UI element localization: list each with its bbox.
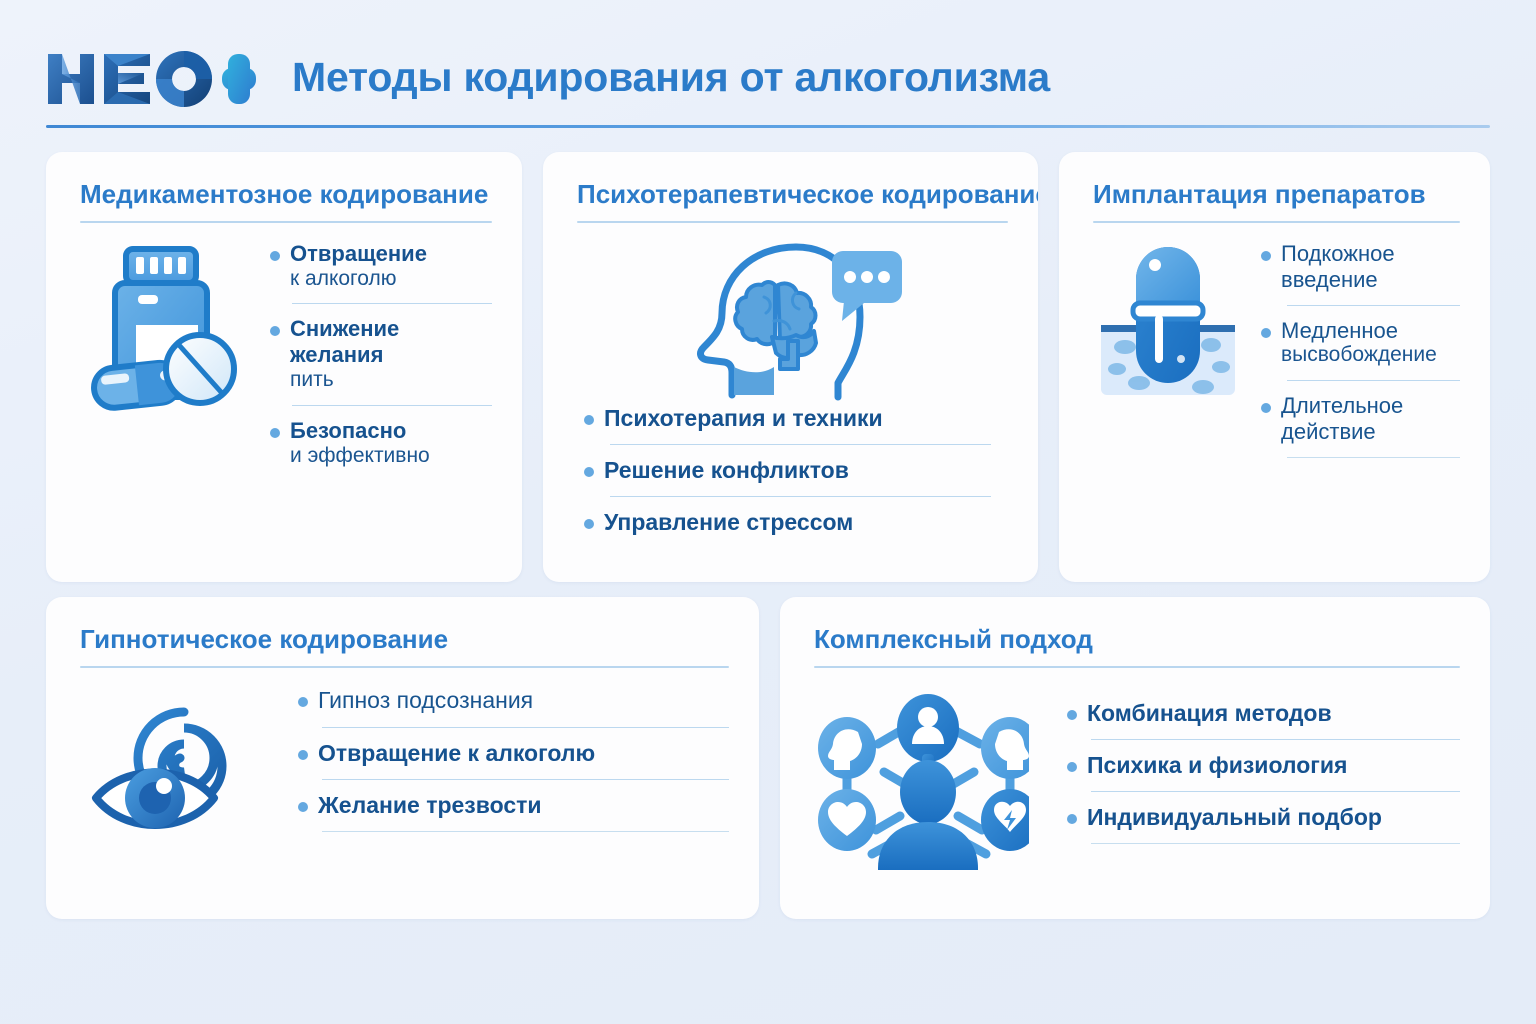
- list-item[interactable]: Желание трезвости: [298, 792, 729, 844]
- card-medication[interactable]: Медикаментозное кодирование: [46, 152, 522, 582]
- card-title-underline: [80, 221, 492, 223]
- bullet-dot-icon: [298, 697, 308, 707]
- list-item[interactable]: Психотерапия и техники: [584, 405, 1015, 457]
- card-title-underline: [814, 666, 1460, 668]
- list-item[interactable]: Подкожное введение: [1261, 241, 1460, 318]
- bullet-separator: [292, 303, 492, 304]
- bullet-separator: [1287, 457, 1460, 458]
- bullet-separator: [322, 831, 729, 832]
- cards-row-top: Медикаментозное кодирование: [46, 152, 1490, 582]
- bullet-line-1: Психика и физиология: [1087, 752, 1347, 779]
- card-complex[interactable]: Комплексный подход: [780, 597, 1490, 919]
- bullet-line-1: Желание трезвости: [318, 792, 542, 819]
- list-item[interactable]: Индивидуальный подбор: [1067, 804, 1460, 856]
- bullet-line-1: Безопасно: [290, 418, 430, 444]
- list-item[interactable]: Отвращение к алкоголю: [270, 241, 492, 317]
- cards-row-bottom: Гипнотическое кодирование: [46, 597, 1490, 919]
- list-item[interactable]: Медленное высвобождение: [1261, 318, 1460, 394]
- bullet-line-1: Подкожное введение: [1281, 241, 1460, 293]
- page-header: Методы кодирования от алкоголизма: [46, 30, 1490, 128]
- hypnosis-eye-spiral-icon: [80, 686, 260, 846]
- bullet-dot-icon: [1067, 762, 1077, 772]
- card-implant[interactable]: Имплантация препаратов: [1059, 152, 1490, 582]
- header-divider: [46, 125, 1490, 128]
- people-network-icon: [814, 686, 1029, 871]
- implant-capsule-icon: [1093, 241, 1243, 471]
- pill-bottle-icon: [80, 241, 250, 475]
- bullet-line-1: Психотерапия и техники: [604, 405, 883, 432]
- list-item[interactable]: Гипноз подсознания: [298, 687, 729, 739]
- bullet-line-2: и эффективно: [290, 444, 430, 469]
- bullet-list-medication: Отвращение к алкоголю Снижение желания п…: [264, 241, 492, 475]
- bullet-line-1: Отвращение к алкоголю: [318, 740, 595, 767]
- bullet-line-1: Медленное: [1281, 318, 1437, 344]
- card-title-underline: [577, 221, 1008, 223]
- card-title-complex: Комплексный подход: [814, 625, 1460, 654]
- bullet-dot-icon: [584, 467, 594, 477]
- card-title-hypnosis: Гипнотическое кодирование: [80, 625, 729, 654]
- list-item[interactable]: Управление стрессом: [584, 509, 1015, 542]
- bullet-separator: [322, 727, 729, 728]
- card-title-implant: Имплантация препаратов: [1093, 180, 1460, 209]
- card-title-psychotherapy: Психотерапевтическое кодирование: [577, 180, 1008, 209]
- page-title: Методы кодирования от алкоголизма: [292, 57, 1050, 102]
- list-item[interactable]: Безопасно и эффективно: [270, 418, 492, 475]
- bullet-separator: [292, 405, 492, 406]
- bullet-dot-icon: [1261, 403, 1271, 413]
- bullet-line-1: Длительное действие: [1281, 393, 1460, 445]
- bullet-dot-icon: [584, 519, 594, 529]
- bullet-separator: [1287, 380, 1460, 381]
- bullet-line-1: Комбинация методов: [1087, 700, 1332, 727]
- card-title-underline: [1093, 221, 1460, 223]
- card-title-underline: [80, 666, 729, 668]
- bullet-dot-icon: [270, 251, 280, 261]
- list-item[interactable]: Длительное действие: [1261, 393, 1460, 470]
- bullet-dot-icon: [298, 802, 308, 812]
- bullet-list-complex: Комбинация методов Психика и физиология: [1043, 686, 1460, 871]
- neo-plus-logo: [46, 51, 258, 107]
- bullet-line-2: высвобождение: [1281, 343, 1437, 368]
- bullet-separator: [1091, 843, 1460, 844]
- bullet-dot-icon: [1067, 710, 1077, 720]
- list-item[interactable]: Решение конфликтов: [584, 457, 1015, 509]
- bullet-line-1: Индивидуальный подбор: [1087, 804, 1382, 831]
- bullet-dot-icon: [1261, 328, 1271, 338]
- bullet-separator: [1091, 739, 1460, 740]
- bullet-list-implant: Подкожное введение Медленное высвобожден…: [1257, 241, 1460, 471]
- bullet-dot-icon: [270, 326, 280, 336]
- bullet-separator: [1287, 305, 1460, 306]
- bullet-dot-icon: [1261, 251, 1271, 261]
- bullet-line-1: Управление стрессом: [604, 509, 853, 536]
- list-item[interactable]: Психика и физиология: [1067, 752, 1460, 804]
- bullet-line-1: Снижение желания: [290, 316, 492, 368]
- bullet-separator: [610, 496, 991, 497]
- card-title-medication: Медикаментозное кодирование: [80, 180, 492, 209]
- bullet-dot-icon: [1067, 814, 1077, 824]
- bullet-list-psychotherapy: Психотерапия и техники Решение конфликто…: [566, 405, 1019, 542]
- bullet-dot-icon: [584, 415, 594, 425]
- card-hypnosis[interactable]: Гипнотическое кодирование: [46, 597, 759, 919]
- bullet-separator: [322, 779, 729, 780]
- bullet-line-2: пить: [290, 368, 492, 393]
- bullet-list-hypnosis: Гипноз подсознания Отвращение к алкоголю: [274, 686, 729, 846]
- bullet-dot-icon: [298, 750, 308, 760]
- bullet-separator: [1091, 791, 1460, 792]
- bullet-dot-icon: [270, 428, 280, 438]
- bullet-line-2: к алкоголю: [290, 267, 427, 292]
- bullet-line-1: Отвращение: [290, 241, 427, 267]
- bullet-line-1: Гипноз подсознания: [318, 687, 533, 714]
- bullet-line-1: Решение конфликтов: [604, 457, 849, 484]
- bullet-separator: [610, 444, 991, 445]
- list-item[interactable]: Отвращение к алкоголю: [298, 740, 729, 792]
- list-item[interactable]: Комбинация методов: [1067, 700, 1460, 752]
- list-item[interactable]: Снижение желания пить: [270, 316, 492, 418]
- card-psychotherapy[interactable]: Психотерапевтическое кодирование: [543, 152, 1038, 582]
- infographic-page: Методы кодирования от алкоголизма Медика…: [0, 0, 1536, 1024]
- head-brain-speech-icon: [678, 241, 908, 401]
